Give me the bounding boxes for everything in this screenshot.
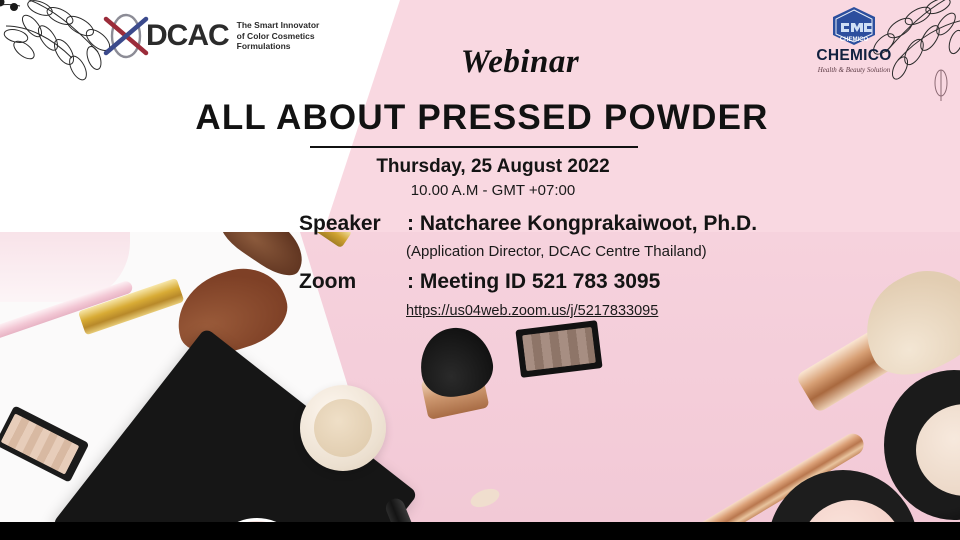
zoom-meeting-id: : Meeting ID 521 783 3095: [407, 270, 660, 294]
chemico-hex-badge: CHEMICO: [831, 6, 877, 46]
loose-powder-jar-inner: [314, 399, 372, 457]
event-date: Thursday, 25 August 2022: [0, 156, 960, 178]
webinar-poster: DCAC The Smart Innovator of Color Cosmet…: [0, 0, 960, 540]
event-time-text: 10.00 A.M - GMT +07:00: [411, 182, 575, 199]
zoom-label: Zoom: [299, 270, 407, 294]
kicker-webinar: Webinar: [0, 44, 960, 81]
zoom-row: Zoom : Meeting ID 521 783 3095: [299, 270, 660, 294]
speaker-label: Speaker: [299, 212, 407, 236]
chemico-hexagon-icon: CHEMICO: [831, 6, 877, 46]
speaker-row: Speaker : Natcharee Kongprakaiwoot, Ph.D…: [299, 212, 757, 236]
title-divider: [310, 146, 638, 148]
zoom-join-link[interactable]: https://us04web.zoom.us/j/5217833095: [406, 303, 658, 319]
letterbox-bar: [0, 522, 960, 540]
headline-text: ALL ABOUT PRESSED POWDER: [195, 98, 768, 138]
dcac-tagline-line1: The Smart Innovator: [237, 20, 350, 31]
speaker-affiliation: (Application Director, DCAC Centre Thail…: [406, 243, 707, 260]
page-title: ALL ABOUT PRESSED POWDER: [0, 98, 960, 138]
svg-text:CHEMICO: CHEMICO: [840, 37, 869, 43]
kicker-text: Webinar: [461, 44, 579, 81]
event-date-text: Thursday, 25 August 2022: [376, 156, 609, 178]
speaker-value: : Natcharee Kongprakaiwoot, Ph.D.: [407, 212, 757, 236]
event-time: 10.00 A.M - GMT +07:00: [0, 182, 960, 199]
